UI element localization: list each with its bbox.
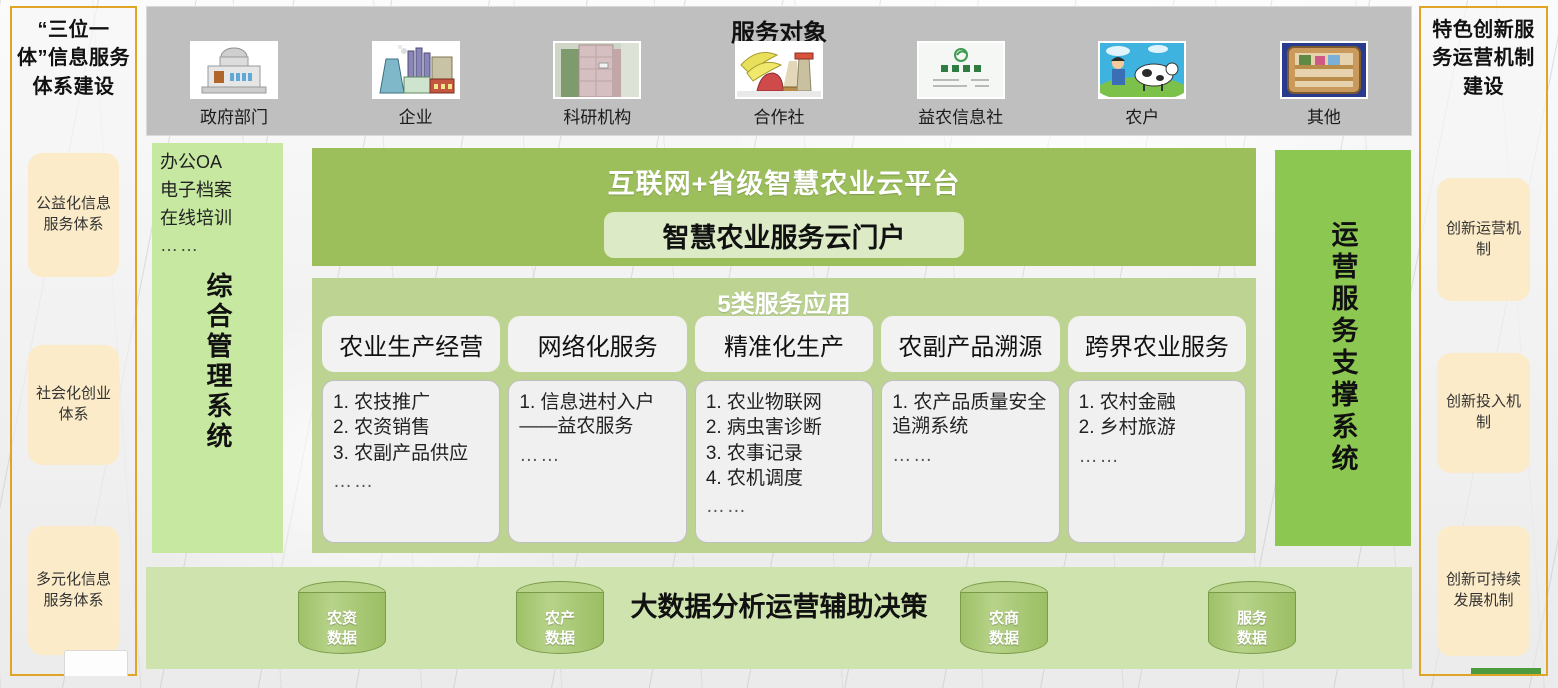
service-object-label: 企业 bbox=[399, 103, 433, 128]
app-body-cross-border-service: 1. 农村金融 2. 乡村旅游 …… bbox=[1068, 380, 1246, 543]
operation-support-vertical-title: 运营服务支撑系统 bbox=[1324, 220, 1363, 476]
management-ellipsis: …… bbox=[160, 235, 275, 256]
app-list-item: 1. 农业物联网 bbox=[706, 391, 864, 415]
shelf-icon bbox=[1280, 41, 1368, 99]
service-object-farmer[interactable]: 农户 bbox=[1067, 41, 1217, 128]
app-head-precision-production[interactable]: 精准化生产 bbox=[695, 316, 873, 372]
app-list-item: 1. 信息进村入户——益农服务 bbox=[519, 391, 677, 440]
app-list-ellipsis: …… bbox=[706, 495, 864, 519]
right-panel-box-innovative-investment[interactable]: 创新投入机制 bbox=[1437, 353, 1530, 473]
management-item-oa: 办公OA bbox=[160, 149, 275, 177]
big-data-band: 大数据分析运营辅助决策 农资数据 农产数据 农商数据 服务数据 bbox=[146, 567, 1412, 669]
right-panel-box-sustainable-development[interactable]: 创新可持续发展机制 bbox=[1437, 526, 1530, 656]
app-body-precision-production: 1. 农业物联网 2. 病虫害诊断 3. 农事记录 4. 农机调度 …… bbox=[695, 380, 873, 543]
service-object-label: 农户 bbox=[1125, 103, 1159, 128]
app-column-network-service: 网络化服务 1. 信息进村入户——益农服务 …… bbox=[508, 316, 686, 543]
app-head-network-service[interactable]: 网络化服务 bbox=[508, 316, 686, 372]
factory-icon bbox=[372, 41, 460, 99]
management-system-column: 办公OA 电子档案 在线培训 …… 综合管理系统 bbox=[152, 143, 283, 553]
right-panel-title: 特色创新服务运营机制建设 bbox=[1421, 8, 1546, 101]
app-head-agri-production[interactable]: 农业生产经营 bbox=[322, 316, 500, 372]
government-building-icon bbox=[190, 41, 278, 99]
data-cylinder-agri-commerce[interactable]: 农商数据 bbox=[960, 581, 1048, 659]
left-panel: “三位一体”信息服务体系建设 公益化信息服务体系 社会化创业体系 多元化信息服务… bbox=[10, 6, 137, 676]
app-list-item: 2. 农资销售 bbox=[333, 416, 491, 440]
cylinder-label: 农资数据 bbox=[298, 609, 386, 649]
farmer-cow-icon bbox=[1098, 41, 1186, 99]
app-list-item: 1. 农技推广 bbox=[333, 391, 491, 415]
service-objects-list: 政府部门 企业 bbox=[159, 41, 1399, 133]
service-object-label: 益农信息社 bbox=[918, 103, 1003, 128]
service-object-government[interactable]: 政府部门 bbox=[159, 41, 309, 128]
cylinder-label: 农产数据 bbox=[516, 609, 604, 649]
service-object-research-institute[interactable]: 科研机构 bbox=[522, 41, 672, 128]
service-object-enterprise[interactable]: 企业 bbox=[341, 41, 491, 128]
research-building-icon bbox=[553, 41, 641, 99]
left-panel-box-social-entrepreneurship[interactable]: 社会化创业体系 bbox=[28, 345, 119, 465]
left-panel-footer-chip bbox=[64, 650, 128, 676]
right-panel-box-list: 创新运营机制 创新投入机制 创新可持续发展机制 bbox=[1421, 101, 1546, 674]
app-body-product-traceability: 1. 农产品质量安全追溯系统 …… bbox=[881, 380, 1059, 543]
service-object-other[interactable]: 其他 bbox=[1249, 41, 1399, 128]
cloud-platform-header: 互联网+省级智慧农业云平台 智慧农业服务云门户 bbox=[312, 148, 1256, 266]
app-list-ellipsis: …… bbox=[1079, 445, 1237, 469]
produce-basket-icon bbox=[735, 41, 823, 99]
yinong-info-station-icon bbox=[917, 41, 1005, 99]
service-object-cooperative[interactable]: 合作社 bbox=[704, 41, 854, 128]
app-list-item: 3. 农事记录 bbox=[706, 442, 864, 466]
service-applications-grid: 农业生产经营 1. 农技推广 2. 农资销售 3. 农副产品供应 …… 网络化服… bbox=[322, 316, 1246, 543]
app-column-precision-production: 精准化生产 1. 农业物联网 2. 病虫害诊断 3. 农事记录 4. 农机调度 … bbox=[695, 316, 873, 543]
app-list-ellipsis: …… bbox=[892, 444, 1050, 468]
service-applications-band: 5类服务应用 农业生产经营 1. 农技推广 2. 农资销售 3. 农副产品供应 … bbox=[312, 278, 1256, 553]
app-head-cross-border-service[interactable]: 跨界农业服务 bbox=[1068, 316, 1246, 372]
management-item-archive: 电子档案 bbox=[160, 177, 275, 205]
app-column-cross-border-service: 跨界农业服务 1. 农村金融 2. 乡村旅游 …… bbox=[1068, 316, 1246, 543]
app-list-item: 2. 乡村旅游 bbox=[1079, 416, 1237, 440]
right-panel-box-innovative-operation[interactable]: 创新运营机制 bbox=[1437, 178, 1530, 301]
left-panel-box-public-welfare[interactable]: 公益化信息服务体系 bbox=[28, 153, 119, 277]
app-list-item: 2. 病虫害诊断 bbox=[706, 416, 864, 440]
service-object-label: 其他 bbox=[1307, 103, 1341, 128]
service-cloud-portal-button[interactable]: 智慧农业服务云门户 bbox=[604, 212, 964, 258]
app-body-network-service: 1. 信息进村入户——益农服务 …… bbox=[508, 380, 686, 543]
operation-support-system-column: 运营服务支撑系统 bbox=[1275, 150, 1411, 546]
service-object-yinong-station[interactable]: 益农信息社 bbox=[886, 41, 1036, 128]
app-list-ellipsis: …… bbox=[519, 444, 677, 468]
app-list-item: 1. 农村金融 bbox=[1079, 391, 1237, 415]
left-panel-box-list: 公益化信息服务体系 社会化创业体系 多元化信息服务体系 bbox=[12, 101, 135, 674]
service-object-label: 政府部门 bbox=[200, 103, 268, 128]
data-cylinder-agri-output[interactable]: 农产数据 bbox=[516, 581, 604, 659]
management-item-training: 在线培训 bbox=[160, 205, 275, 233]
cylinder-label: 农商数据 bbox=[960, 609, 1048, 649]
app-head-product-traceability[interactable]: 农副产品溯源 bbox=[881, 316, 1059, 372]
management-system-vertical-title: 综合管理系统 bbox=[200, 272, 237, 452]
service-object-label: 合作社 bbox=[753, 103, 804, 128]
right-panel-footer-chip bbox=[1471, 668, 1541, 674]
app-list-item: 1. 农产品质量安全追溯系统 bbox=[892, 391, 1050, 440]
data-cylinder-agri-supplies[interactable]: 农资数据 bbox=[298, 581, 386, 659]
left-panel-title: “三位一体”信息服务体系建设 bbox=[12, 8, 135, 101]
app-list-item: 4. 农机调度 bbox=[706, 467, 864, 491]
app-column-agri-production: 农业生产经营 1. 农技推广 2. 农资销售 3. 农副产品供应 …… bbox=[322, 316, 500, 543]
app-body-agri-production: 1. 农技推广 2. 农资销售 3. 农副产品供应 …… bbox=[322, 380, 500, 543]
app-column-product-traceability: 农副产品溯源 1. 农产品质量安全追溯系统 …… bbox=[881, 316, 1059, 543]
service-object-label: 科研机构 bbox=[563, 103, 631, 128]
service-objects-band: 服务对象 政府部门 bbox=[146, 6, 1412, 136]
service-applications-title: 5类服务应用 bbox=[312, 278, 1256, 319]
right-panel: 特色创新服务运营机制建设 创新运营机制 创新投入机制 创新可持续发展机制 bbox=[1419, 6, 1548, 676]
app-list-ellipsis: …… bbox=[333, 470, 491, 494]
data-cylinder-service[interactable]: 服务数据 bbox=[1208, 581, 1296, 659]
app-list-item: 3. 农副产品供应 bbox=[333, 442, 491, 466]
left-panel-box-diversified-info[interactable]: 多元化信息服务体系 bbox=[28, 526, 119, 655]
cylinder-label: 服务数据 bbox=[1208, 609, 1296, 649]
platform-title: 互联网+省级智慧农业云平台 bbox=[312, 148, 1256, 201]
